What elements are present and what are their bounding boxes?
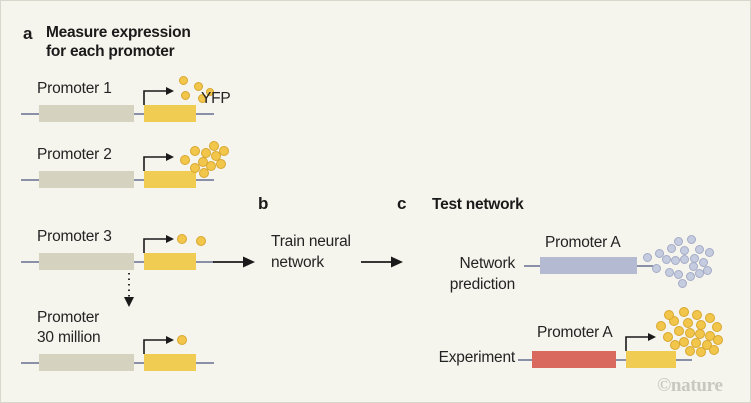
- flow-arrow-a-to-b-icon: [213, 253, 261, 271]
- panel-a-title: Measure expression for each promoter: [46, 23, 266, 61]
- experiment-dot-cluster: [649, 307, 725, 359]
- yfp-dot: [692, 310, 702, 320]
- prediction-dot: [687, 235, 696, 244]
- yfp-dot: [199, 168, 209, 178]
- yfp-dot: [656, 321, 666, 331]
- yfp-dot: [713, 335, 723, 345]
- network-prediction-row: Network prediction Promoter A: [421, 233, 741, 293]
- backbone-left-3: [21, 261, 39, 263]
- yfp-dot: [177, 335, 187, 345]
- yfp-dot-cluster-2: [173, 139, 235, 185]
- backbone-mid-3: [134, 261, 144, 263]
- panel-letter-b: b: [258, 194, 268, 214]
- transcription-arrow-1: [141, 81, 181, 107]
- yfp-gene-box-3: [144, 253, 196, 270]
- yfp-dot: [670, 340, 680, 350]
- backbone-mid-1: [134, 113, 144, 115]
- experiment-row: Experiment Promoter A: [421, 319, 741, 379]
- prediction-dot: [667, 244, 676, 253]
- prediction-dot: [652, 264, 661, 273]
- yfp-dot: [679, 307, 689, 317]
- backbone-left-1: [21, 113, 39, 115]
- nature-watermark: ©nature: [657, 375, 723, 397]
- experiment-promoter-box: [532, 351, 616, 368]
- yfp-dot: [181, 91, 190, 100]
- panel-letter-a: a: [23, 24, 32, 44]
- yfp-dot: [712, 322, 722, 332]
- promoter-3-label: Promoter 3: [37, 227, 112, 247]
- transcription-arrow-3: [141, 229, 181, 255]
- prediction-dot: [674, 270, 683, 279]
- promoter-30m-label: Promoter 30 million: [37, 308, 100, 348]
- yfp-dot: [696, 347, 706, 357]
- transcription-arrow-4: [141, 330, 181, 356]
- backbone-right-3: [196, 261, 214, 263]
- experiment-construct-label: Promoter A: [537, 323, 613, 343]
- yfp-dot: [219, 146, 229, 156]
- backbone-left-pred: [524, 265, 540, 267]
- yfp-dot: [709, 345, 719, 355]
- prediction-dot: [674, 237, 683, 246]
- promoter-box-2: [39, 171, 134, 188]
- backbone-right-4: [196, 362, 214, 364]
- backbone-right-exp: [676, 359, 692, 361]
- promoter-2-label: Promoter 2: [37, 145, 112, 165]
- backbone-right-1: [196, 113, 214, 115]
- yfp-gene-box-4: [144, 354, 196, 371]
- backbone-left-exp: [518, 359, 532, 361]
- yfp-dot: [685, 346, 695, 356]
- prediction-dot: [643, 253, 652, 262]
- construct-row-promoter-2: Promoter 2: [1, 145, 251, 197]
- yfp-dot: [177, 234, 187, 244]
- prediction-dot: [665, 268, 674, 277]
- backbone-mid-exp: [616, 359, 626, 361]
- prediction-dot: [705, 248, 714, 257]
- yfp-dot: [180, 155, 190, 165]
- figure-canvas: a Measure expression for each promoter P…: [0, 0, 751, 403]
- yfp-dot: [190, 146, 200, 156]
- promoter-1-label: Promoter 1: [37, 79, 112, 99]
- construct-row-promoter-30-million: Promoter 30 million: [1, 308, 251, 378]
- prediction-dot: [680, 255, 689, 264]
- backbone-mid-4: [134, 362, 144, 364]
- yfp-dot: [685, 328, 695, 338]
- prediction-dot: [695, 245, 704, 254]
- promoter-box-3: [39, 253, 134, 270]
- yfp-dot: [664, 310, 674, 320]
- yfp-dot: [216, 159, 226, 169]
- backbone-mid-2: [134, 179, 144, 181]
- experiment-label: Experiment: [421, 347, 515, 368]
- prediction-dot: [703, 266, 712, 275]
- yfp-dot: [196, 236, 206, 246]
- backbone-left-4: [21, 362, 39, 364]
- panel-c-title: Test network: [432, 195, 632, 214]
- prediction-dot-cluster: [643, 235, 715, 287]
- yfp-dot-cluster-4: [177, 332, 197, 348]
- flow-arrow-b-to-c-icon: [361, 253, 409, 271]
- dotted-arrow-down-icon: [119, 273, 141, 309]
- prediction-promoter-box: [540, 257, 637, 274]
- yfp-dot: [179, 76, 188, 85]
- prediction-dot: [680, 246, 689, 255]
- prediction-dot: [662, 255, 671, 264]
- prediction-construct-label: Promoter A: [545, 233, 621, 253]
- promoter-box-4: [39, 354, 134, 371]
- construct-row-promoter-1: Promoter 1 YFP: [1, 79, 251, 131]
- prediction-dot: [686, 272, 695, 281]
- yfp-dot: [209, 141, 219, 151]
- yfp-dot: [705, 313, 715, 323]
- yfp-dot-cluster-3: [177, 231, 217, 251]
- network-prediction-label: Network prediction: [421, 253, 515, 295]
- yfp-dot: [674, 326, 684, 336]
- prediction-dot: [671, 256, 680, 265]
- yfp-dot: [683, 318, 693, 328]
- panel-letter-c: c: [397, 194, 406, 214]
- backbone-left-2: [21, 179, 39, 181]
- promoter-box-1: [39, 105, 134, 122]
- prediction-dot: [678, 279, 687, 288]
- yfp-product-label: YFP: [201, 89, 231, 109]
